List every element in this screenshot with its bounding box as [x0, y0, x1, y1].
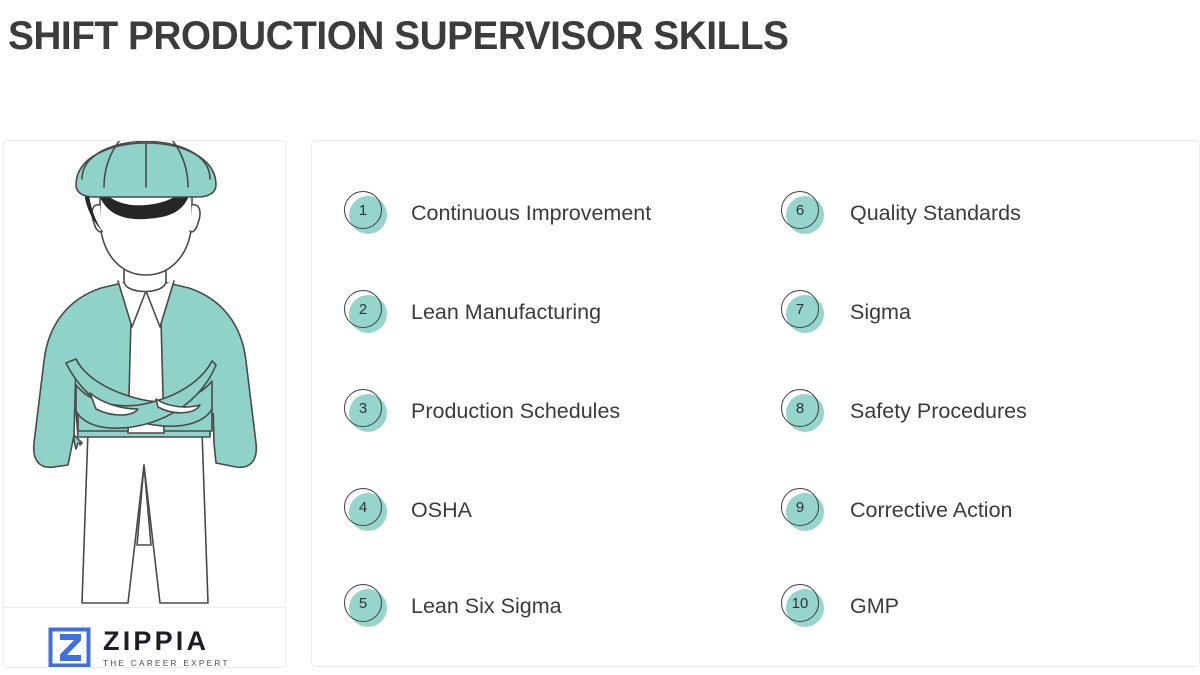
skill-item: 10 GMP	[779, 581, 899, 631]
skill-item: 3 Production Schedules	[342, 386, 620, 436]
skill-number-badge: 6	[779, 189, 827, 237]
zippia-logo: ZIPPIA THE CAREER EXPERT	[48, 625, 230, 668]
skill-number-badge: 10	[779, 582, 827, 630]
skill-label: Lean Six Sigma	[411, 594, 562, 619]
skill-item: 5 Lean Six Sigma	[342, 581, 562, 631]
skill-label: GMP	[850, 594, 899, 619]
badge-number: 1	[344, 191, 382, 229]
skill-number-badge: 5	[342, 582, 390, 630]
illustration-card: ZIPPIA THE CAREER EXPERT	[3, 140, 286, 668]
skill-label: Quality Standards	[850, 201, 1021, 226]
skill-label: Continuous Improvement	[411, 201, 651, 226]
skills-column-right: 6 Quality Standards 7 Sigma 8 Safety	[763, 141, 1199, 666]
badge-number: 9	[781, 488, 819, 526]
badge-number: 4	[344, 488, 382, 526]
skills-panel: 1 Continuous Improvement 2 Lean Manufact…	[311, 140, 1200, 667]
zippia-tagline: THE CAREER EXPERT	[103, 660, 230, 668]
skill-item: 7 Sigma	[779, 287, 911, 337]
divider	[4, 607, 286, 608]
badge-number: 2	[344, 290, 382, 328]
zippia-wordmark: ZIPPIA THE CAREER EXPERT	[103, 626, 230, 668]
badge-number: 3	[344, 389, 382, 427]
badge-number: 7	[781, 290, 819, 328]
badge-number: 6	[781, 191, 819, 229]
skill-number-badge: 3	[342, 387, 390, 435]
skills-column-left: 1 Continuous Improvement 2 Lean Manufact…	[312, 141, 763, 666]
skill-label: Production Schedules	[411, 399, 620, 424]
skill-label: Lean Manufacturing	[411, 300, 601, 325]
skill-label: Sigma	[850, 300, 911, 325]
skill-number-badge: 1	[342, 189, 390, 237]
zippia-name: ZIPPIA	[103, 628, 230, 655]
badge-number: 8	[781, 389, 819, 427]
zippia-mark-icon	[48, 625, 92, 668]
page-title: SHIFT PRODUCTION SUPERVISOR SKILLS	[8, 14, 788, 59]
skill-item: 6 Quality Standards	[779, 188, 1021, 238]
skill-item: 9 Corrective Action	[779, 485, 1013, 535]
skill-number-badge: 9	[779, 486, 827, 534]
supervisor-worker-illustration	[4, 140, 286, 613]
badge-number: 5	[344, 584, 382, 622]
skill-number-badge: 7	[779, 288, 827, 336]
skill-item: 8 Safety Procedures	[779, 386, 1027, 436]
skill-label: OSHA	[411, 498, 472, 523]
skill-number-badge: 2	[342, 288, 390, 336]
skill-item: 1 Continuous Improvement	[342, 188, 651, 238]
skill-number-badge: 8	[779, 387, 827, 435]
skill-item: 4 OSHA	[342, 485, 472, 535]
skill-label: Corrective Action	[850, 498, 1013, 523]
badge-number: 10	[781, 584, 819, 622]
skill-number-badge: 4	[342, 486, 390, 534]
skill-item: 2 Lean Manufacturing	[342, 287, 601, 337]
skill-label: Safety Procedures	[850, 399, 1027, 424]
